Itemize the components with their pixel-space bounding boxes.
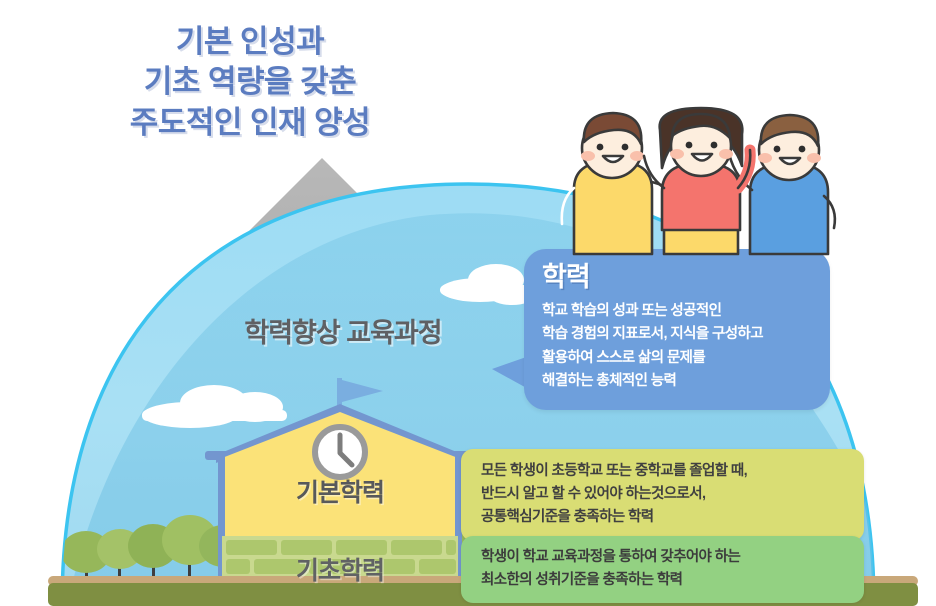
callout-body: 학교 학습의 성과 또는 성공적인 학습 경험의 지표로서, 지식을 구성하고 … bbox=[542, 300, 812, 394]
callout-line-3: 활용하여 스스로 삶의 문제를 bbox=[542, 347, 812, 370]
callout-line-1: 학교 학습의 성과 또는 성공적인 bbox=[542, 300, 812, 323]
definition-box-foundation-ability: 학생이 학교 교육과정을 통하여 갖추어야 하는 최소한의 성취기준을 충족하는… bbox=[461, 536, 864, 603]
house-label-basic-ability: 기본학력 bbox=[232, 473, 448, 509]
child-center bbox=[644, 108, 750, 254]
foundation-line-1: 학생이 학교 교육과정을 통하여 갖추어야 하는 bbox=[481, 546, 850, 569]
title-line-1: 기본 인성과 bbox=[0, 22, 500, 62]
house-label-foundation-ability: 기초학력 bbox=[232, 551, 448, 587]
basic-line-1: 모든 학생이 초등학교 또는 중학교를 졸업할 때, bbox=[481, 460, 850, 483]
callout-line-4: 해결하는 총체적인 능력 bbox=[542, 370, 812, 393]
page-title: 기본 인성과 기초 역량을 갖춘 주도적인 인재 양성 bbox=[0, 22, 500, 143]
basic-line-2: 반드시 알고 할 수 있어야 하는것으로서, bbox=[481, 483, 850, 506]
callout-line-2: 학습 경험의 지표로서, 지식을 구성하고 bbox=[542, 323, 812, 346]
basic-line-3: 공통핵심기준을 충족하는 학력 bbox=[481, 506, 850, 529]
foundation-line-2: 최소한의 성취기준을 충족하는 학력 bbox=[481, 569, 850, 592]
students-illustration bbox=[556, 104, 848, 269]
infographic-canvas: 기본 인성과 기초 역량을 갖춘 주도적인 인재 양성 학력향상 교육과정 기본… bbox=[0, 0, 936, 606]
academic-ability-callout: 학력 학교 학습의 성과 또는 성공적인 학습 경험의 지표로서, 지식을 구성… bbox=[524, 249, 830, 410]
title-line-2: 기초 역량을 갖춘 bbox=[0, 62, 500, 102]
title-line-3: 주도적인 인재 양성 bbox=[0, 103, 500, 143]
definition-box-basic-ability: 모든 학생이 초등학교 또는 중학교를 졸업할 때, 반드시 알고 할 수 있어… bbox=[461, 449, 864, 541]
curriculum-label: 학력향상 교육과정 bbox=[198, 311, 488, 350]
clock-icon bbox=[315, 427, 365, 477]
